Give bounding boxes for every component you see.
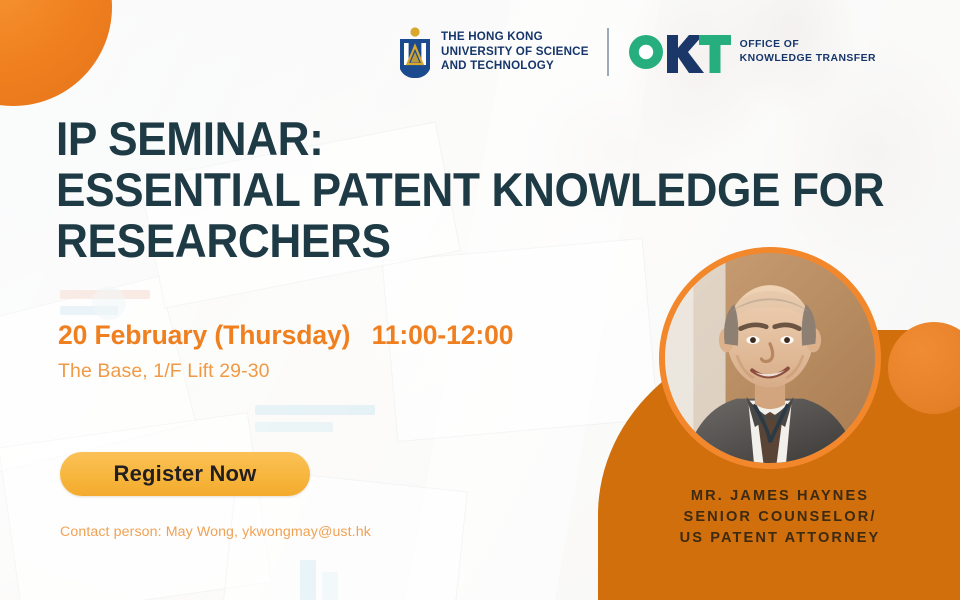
okt-logo-line-2: KNOWLEDGE TRANSFER [740, 52, 876, 66]
page-title-line-3: RESEARCHERS [56, 216, 799, 267]
logo-divider [607, 28, 609, 76]
speaker-portrait-illustration [665, 253, 875, 463]
contact-info: Contact person: May Wong, ykwongmay@ust.… [60, 524, 371, 540]
speaker-details: MR. JAMES HAYNES SENIOR COUNSELOR/ US PA… [600, 486, 960, 549]
okt-logo-line-1: OFFICE OF [740, 38, 876, 52]
hkust-logo-line-2: UNIVERSITY OF SCIENCE [441, 45, 589, 60]
speaker-name: MR. JAMES HAYNES [600, 486, 960, 507]
poster-canvas: THE HONG KONG UNIVERSITY OF SCIENCE AND … [0, 0, 960, 600]
page-title: IP SEMINAR: ESSENTIAL PATENT KNOWLEDGE F… [56, 114, 799, 266]
hkust-logo-line-3: AND TECHNOLOGY [441, 59, 589, 74]
okt-logo: OFFICE OF KNOWLEDGE TRANSFER [627, 31, 876, 73]
okt-logo-text: OFFICE OF KNOWLEDGE TRANSFER [740, 38, 876, 65]
hkust-shield-icon [398, 26, 432, 78]
page-title-line-1: IP SEMINAR: [56, 114, 799, 165]
event-time: 11:00-12:00 [372, 320, 514, 350]
event-venue: The Base, 1/F Lift 29-30 [58, 360, 270, 383]
register-now-button[interactable]: Register Now [60, 452, 310, 496]
page-title-line-2: ESSENTIAL PATENT KNOWLEDGE FOR [56, 165, 799, 216]
hkust-logo: THE HONG KONG UNIVERSITY OF SCIENCE AND … [398, 26, 589, 78]
speaker-title-line-1: SENIOR COUNSELOR/ [600, 507, 960, 528]
event-date: 20 February (Thursday) [58, 320, 350, 350]
event-datetime: 20 February (Thursday) 11:00-12:00 [58, 320, 513, 351]
okt-wordmark-icon [627, 31, 731, 73]
speaker-portrait [659, 247, 881, 469]
hkust-logo-line-1: THE HONG KONG [441, 30, 589, 45]
logo-bar: THE HONG KONG UNIVERSITY OF SCIENCE AND … [398, 26, 876, 78]
hkust-logo-text: THE HONG KONG UNIVERSITY OF SCIENCE AND … [441, 30, 589, 74]
speaker-title-line-2: US PATENT ATTORNEY [600, 528, 960, 549]
